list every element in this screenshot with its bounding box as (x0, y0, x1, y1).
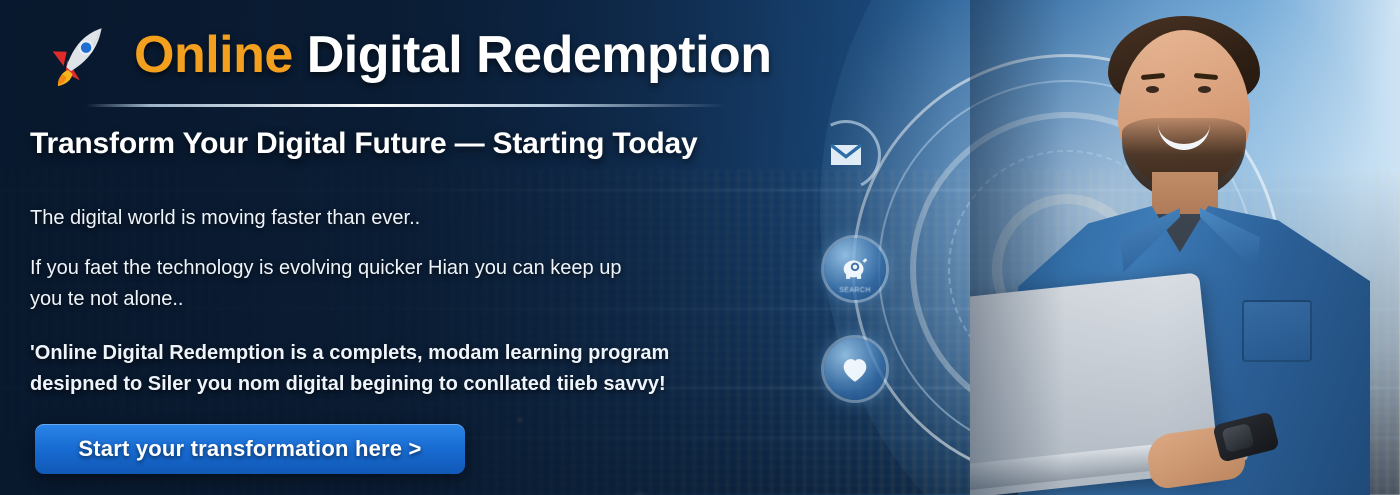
heart-icon[interactable] (824, 338, 886, 400)
rocket-icon (40, 17, 123, 92)
promo-banner: SEARCH Online Dig (0, 0, 1400, 495)
title-rest: Digital Redemption (307, 26, 772, 84)
brand-title-row: Online Digital Redemption (42, 20, 772, 90)
title-divider (86, 104, 726, 107)
page-title: Online Digital Redemption (134, 29, 772, 81)
subtitle: Transform Your Digital Future — Starting… (30, 127, 698, 161)
paragraph-2-line-1: If you faet the technology is evolving q… (30, 253, 621, 284)
paragraph-3-line-1: 'Online Digital Redemption is a complets… (30, 338, 669, 369)
paragraph-3: 'Online Digital Redemption is a complets… (30, 338, 669, 400)
paragraph-1: The digital world is moving faster than … (30, 203, 420, 234)
program-name: 'Online Digital Redemption (30, 342, 285, 364)
title-accent-word: Online (134, 26, 293, 84)
paragraph-2: If you faet the technology is evolving q… (30, 253, 621, 315)
paragraph-2-line-2: you te not alone.. (30, 284, 621, 315)
banner-content: Online Digital Redemption Transform Your… (0, 0, 830, 495)
start-transformation-button[interactable]: Start your transformation here > (35, 424, 465, 474)
paragraph-3-line-1-rest: is a complets, modam learning program (285, 342, 670, 364)
paragraph-3-line-2: desipned to Siler you nom digital begini… (30, 369, 669, 400)
search-piggy-icon[interactable]: SEARCH (824, 238, 886, 300)
search-icon-caption: SEARCH (824, 287, 886, 294)
